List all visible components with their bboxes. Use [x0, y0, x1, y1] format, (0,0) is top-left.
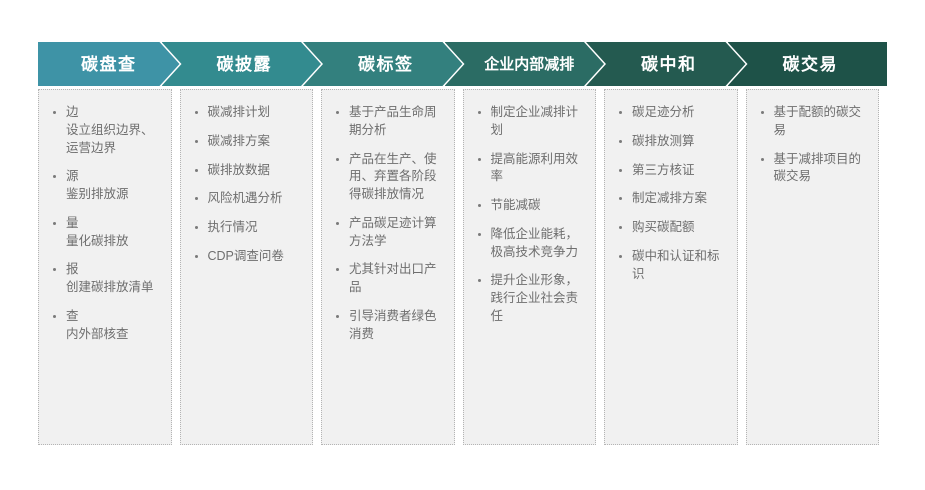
stage-panel-stage-carbon-label: 基于产品生命周期分析产品在生产、使用、弃置各阶段得碳排放情况产品碳足迹计算方法学… [321, 89, 455, 445]
list-item: 产品在生产、使用、弃置各阶段得碳排放情况 [330, 151, 444, 204]
list-item: 提高能源利用效率 [472, 151, 586, 187]
list-item: 报创建碳排放清单 [47, 261, 161, 297]
stage-panel-stage-carbon-trading: 基于配额的碳交易基于减排项目的碳交易 [746, 89, 880, 445]
list-item-title: 尤其针对出口产品 [349, 261, 444, 297]
list-item-title: 报 [66, 261, 161, 279]
list-item-detail: 鉴别排放源 [66, 186, 161, 204]
stage-header-strip: 碳盘查碳披露碳标签企业内部减排碳中和碳交易 [38, 42, 887, 86]
list-item-title: 碳减排方案 [208, 133, 303, 151]
list-item-detail: 创建碳排放清单 [66, 279, 161, 297]
list-item-title: 查 [66, 308, 161, 326]
list-item-title: 提升企业形象，践行企业社会责任 [491, 272, 586, 325]
list-item: CDP调查问卷 [189, 248, 303, 266]
list-item-title: 碳足迹分析 [632, 104, 727, 122]
stage-panel-stage-carbon-neutrality: 碳足迹分析碳排放测算第三方核证制定减排方案购买碳配额碳中和认证和标识 [604, 89, 738, 445]
list-item-title: 碳排放测算 [632, 133, 727, 151]
list-item-title: 碳减排计划 [208, 104, 303, 122]
list-item-title: 第三方核证 [632, 162, 727, 180]
list-item-title: 碳中和认证和标识 [632, 248, 727, 284]
list-item: 源鉴别排放源 [47, 168, 161, 204]
stage-header-stage-carbon-label[interactable]: 碳标签 [303, 42, 463, 86]
list-item-title: 源 [66, 168, 161, 186]
list-item-title: 引导消费者绿色消费 [349, 308, 444, 344]
stage-header-stage-internal-reduction[interactable]: 企业内部减排 [445, 42, 605, 86]
stage-panel-stage-carbon-disclosure: 碳减排计划碳减排方案碳排放数据风险机遇分析执行情况CDP调查问卷 [180, 89, 314, 445]
list-item: 碳减排方案 [189, 133, 303, 151]
stage-header-stage-carbon-inventory[interactable]: 碳盘查 [38, 42, 180, 86]
list-item: 第三方核证 [613, 162, 727, 180]
stage-body-row: 边设立组织边界、运营边界源鉴别排放源量量化碳排放报创建碳排放清单查内外部核查碳减… [38, 89, 887, 445]
list-item-title: 风险机遇分析 [208, 190, 303, 208]
stage-bullet-list: 基于配额的碳交易基于减排项目的碳交易 [755, 104, 869, 186]
stage-header-label: 企业内部减排 [474, 57, 574, 72]
list-item-detail: 量化碳排放 [66, 233, 161, 251]
list-item: 风险机遇分析 [189, 190, 303, 208]
list-item-title: 碳排放数据 [208, 162, 303, 180]
stage-bullet-list: 制定企业减排计划提高能源利用效率节能减碳降低企业能耗，极高技术竞争力提升企业形象… [472, 104, 586, 326]
list-item: 节能减碳 [472, 197, 586, 215]
stage-panel-stage-internal-reduction: 制定企业减排计划提高能源利用效率节能减碳降低企业能耗，极高技术竞争力提升企业形象… [463, 89, 597, 445]
stage-header-label: 碳盘查 [81, 56, 137, 73]
list-item-title: 制定减排方案 [632, 190, 727, 208]
chevron-process-diagram: 碳盘查碳披露碳标签企业内部减排碳中和碳交易 边设立组织边界、运营边界源鉴别排放源… [0, 0, 925, 490]
stage-header-label: 碳交易 [777, 56, 839, 73]
list-item: 基于产品生命周期分析 [330, 104, 444, 140]
list-item: 碳排放测算 [613, 133, 727, 151]
stage-header-stage-carbon-neutrality[interactable]: 碳中和 [586, 42, 746, 86]
list-item: 碳排放数据 [189, 162, 303, 180]
list-item: 边设立组织边界、运营边界 [47, 104, 161, 157]
list-item-title: 边 [66, 104, 161, 122]
stage-header-stage-carbon-disclosure[interactable]: 碳披露 [162, 42, 322, 86]
list-item: 碳足迹分析 [613, 104, 727, 122]
list-item-title: 执行情况 [208, 219, 303, 237]
list-item: 购买碳配额 [613, 219, 727, 237]
list-item: 基于配额的碳交易 [755, 104, 869, 140]
stage-panel-stage-carbon-inventory: 边设立组织边界、运营边界源鉴别排放源量量化碳排放报创建碳排放清单查内外部核查 [38, 89, 172, 445]
list-item: 碳减排计划 [189, 104, 303, 122]
list-item: 引导消费者绿色消费 [330, 308, 444, 344]
list-item: 产品碳足迹计算方法学 [330, 215, 444, 251]
list-item: 提升企业形象，践行企业社会责任 [472, 272, 586, 325]
stage-header-stage-carbon-trading[interactable]: 碳交易 [728, 42, 888, 86]
list-item-title: 产品碳足迹计算方法学 [349, 215, 444, 251]
list-item-title: 基于产品生命周期分析 [349, 104, 444, 140]
stage-bullet-list: 基于产品生命周期分析产品在生产、使用、弃置各阶段得碳排放情况产品碳足迹计算方法学… [330, 104, 444, 343]
list-item-title: 基于减排项目的碳交易 [774, 151, 869, 187]
stage-bullet-list: 边设立组织边界、运营边界源鉴别排放源量量化碳排放报创建碳排放清单查内外部核查 [47, 104, 161, 343]
list-item-title: 制定企业减排计划 [491, 104, 586, 140]
stage-header-label: 碳披露 [211, 56, 273, 73]
list-item-detail: 内外部核查 [66, 326, 161, 344]
stage-bullet-list: 碳足迹分析碳排放测算第三方核证制定减排方案购买碳配额碳中和认证和标识 [613, 104, 727, 283]
list-item-title: 节能减碳 [491, 197, 586, 215]
list-item-title: 量 [66, 215, 161, 233]
list-item-title: 提高能源利用效率 [491, 151, 586, 187]
list-item: 基于减排项目的碳交易 [755, 151, 869, 187]
list-item: 量量化碳排放 [47, 215, 161, 251]
list-item: 碳中和认证和标识 [613, 248, 727, 284]
stage-bullet-list: 碳减排计划碳减排方案碳排放数据风险机遇分析执行情况CDP调查问卷 [189, 104, 303, 266]
list-item: 尤其针对出口产品 [330, 261, 444, 297]
list-item-title: 产品在生产、使用、弃置各阶段得碳排放情况 [349, 151, 444, 204]
list-item-title: 基于配额的碳交易 [774, 104, 869, 140]
list-item-detail: 设立组织边界、运营边界 [66, 122, 161, 158]
list-item: 制定减排方案 [613, 190, 727, 208]
list-item: 制定企业减排计划 [472, 104, 586, 140]
stage-header-label: 碳中和 [635, 56, 697, 73]
list-item: 查内外部核查 [47, 308, 161, 344]
list-item: 执行情况 [189, 219, 303, 237]
list-item-title: CDP调查问卷 [208, 248, 303, 266]
list-item-title: 购买碳配额 [632, 219, 727, 237]
list-item-title: 降低企业能耗，极高技术竞争力 [491, 226, 586, 262]
list-item: 降低企业能耗，极高技术竞争力 [472, 226, 586, 262]
stage-header-label: 碳标签 [352, 56, 414, 73]
